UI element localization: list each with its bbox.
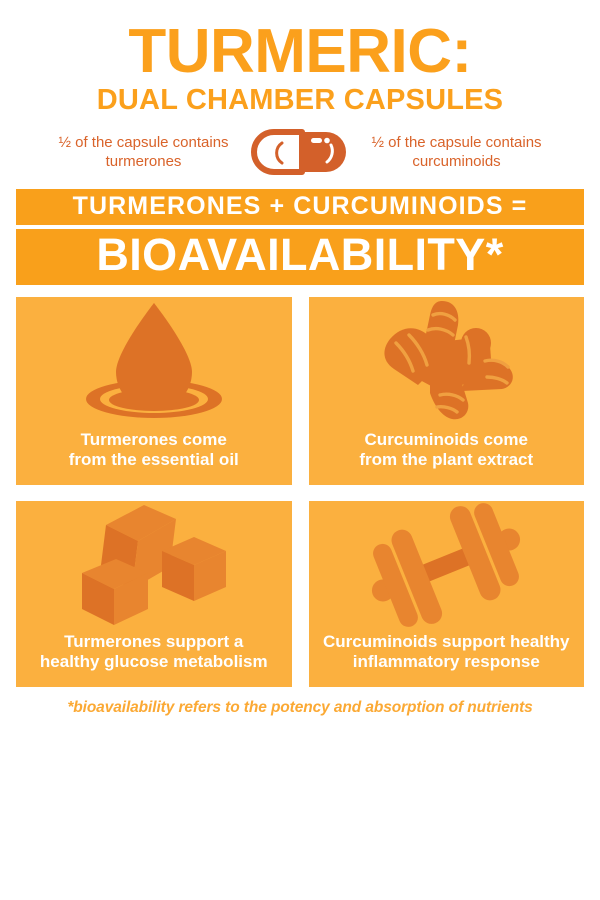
card-label-line2: inflammatory response [323, 652, 570, 673]
card-label: Turmerones come from the essential oil [61, 430, 247, 471]
capsule-left-caption: ½ of the capsule contains turmerones [51, 133, 236, 171]
card-label: Curcuminoids come from the plant extract [351, 430, 541, 471]
card-turmerones-glucose-metabolism: Turmerones support a healthy glucose met… [16, 501, 292, 687]
card-label: Turmerones support a healthy glucose met… [32, 632, 276, 673]
card-curcuminoids-plant-extract: Curcuminoids come from the plant extract [309, 297, 585, 485]
oil-droplet-icon [64, 299, 244, 423]
capsule-icon [251, 129, 349, 175]
card-label-line1: Turmerones come [69, 430, 239, 451]
sugar-cubes-icon-wrapper [16, 501, 292, 629]
capsule-icon-wrapper [246, 129, 354, 175]
card-label-line1: Curcuminoids support healthy [323, 632, 570, 653]
card-label-line1: Turmerones support a [40, 632, 268, 653]
dumbbell-icon-wrapper [309, 501, 585, 629]
page-subtitle: DUAL CHAMBER CAPSULES [0, 85, 600, 115]
capsule-explanation-row: ½ of the capsule contains turmerones ½ o… [0, 129, 600, 175]
turmeric-root-icon-wrapper [309, 297, 585, 425]
turmeric-root-icon [356, 299, 536, 423]
card-label-line2: from the plant extract [359, 450, 533, 471]
card-label-line2: from the essential oil [69, 450, 239, 471]
banner-headline: BIOAVAILABILITY* [16, 229, 584, 285]
card-label-line2: healthy glucose metabolism [40, 652, 268, 673]
dumbbell-icon [356, 503, 536, 627]
infographic-poster: TURMERIC: DUAL CHAMBER CAPSULES ½ of the… [0, 0, 600, 900]
bioavailability-banner: TURMERONES + CURCUMINOIDS = BIOAVAILABIL… [16, 189, 584, 285]
page-title: TURMERIC: [0, 22, 600, 83]
card-label: Curcuminoids support healthy inflammator… [315, 632, 578, 673]
banner-equation-line: TURMERONES + CURCUMINOIDS = [16, 189, 584, 225]
benefit-card-grid: Turmerones come from the essential oil [16, 297, 584, 687]
footnote: *bioavailability refers to the potency a… [16, 699, 584, 717]
capsule-right-caption: ½ of the capsule contains curcuminoids [364, 133, 549, 171]
poster-header: TURMERIC: DUAL CHAMBER CAPSULES [0, 0, 600, 115]
oil-droplet-icon-wrapper [16, 297, 292, 425]
sugar-cubes-icon [64, 503, 244, 627]
card-curcuminoids-inflammatory-response: Curcuminoids support healthy inflammator… [309, 501, 585, 687]
card-label-line1: Curcuminoids come [359, 430, 533, 451]
card-turmerones-essential-oil: Turmerones come from the essential oil [16, 297, 292, 485]
